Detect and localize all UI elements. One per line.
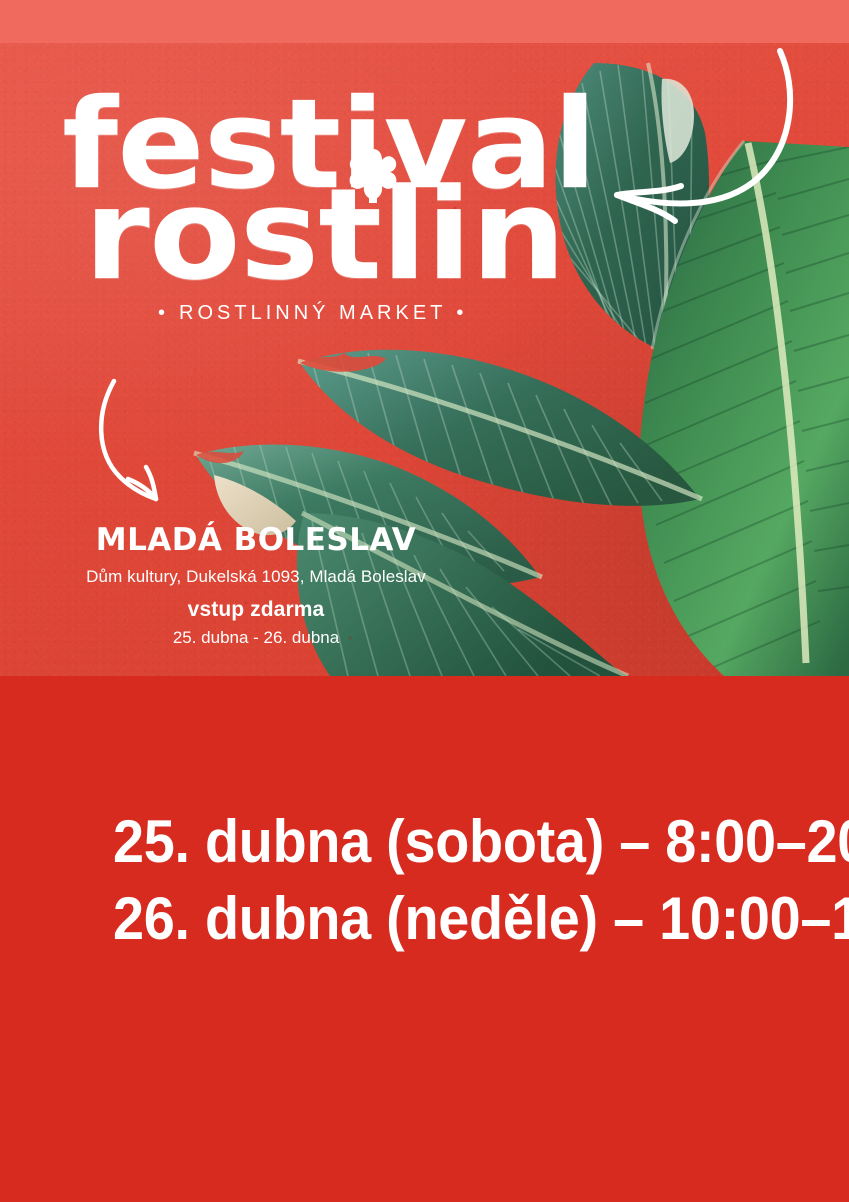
wordmark: festival rostlin — [62, 95, 622, 286]
monstera-leaf-icon — [346, 147, 400, 203]
festival-logo: festival rostlin •ROSTLINNÝ MARKET• — [62, 95, 622, 325]
event-date-range: 25. dubna - 26. dubna — [0, 628, 512, 648]
entry-fee-label: vstup zdarma — [0, 598, 512, 622]
schedule-section: 25. dubna (sobota) – 8:00–20:00 26. dubn… — [0, 676, 849, 1202]
poster-root: festival rostlin •ROSTLINNÝ MARKET• MLAD… — [0, 0, 849, 1202]
venue-info: MLADÁ BOLESLAV Dům kultury, Dukelská 109… — [0, 523, 512, 648]
venue-city: MLADÁ BOLESLAV — [0, 523, 512, 557]
schedule-line-saturday: 25. dubna (sobota) – 8:00–20:00 — [113, 804, 708, 881]
top-accent-strip — [0, 0, 849, 43]
schedule-line-sunday: 26. dubna (neděle) – 10:00–18:00 — [113, 881, 708, 958]
schedule-list: 25. dubna (sobota) – 8:00–20:00 26. dubn… — [113, 804, 753, 958]
hero-banner: festival rostlin •ROSTLINNÝ MARKET• MLAD… — [0, 43, 849, 676]
venue-address: Dům kultury, Dukelská 1093, Mladá Bolesl… — [0, 567, 512, 587]
